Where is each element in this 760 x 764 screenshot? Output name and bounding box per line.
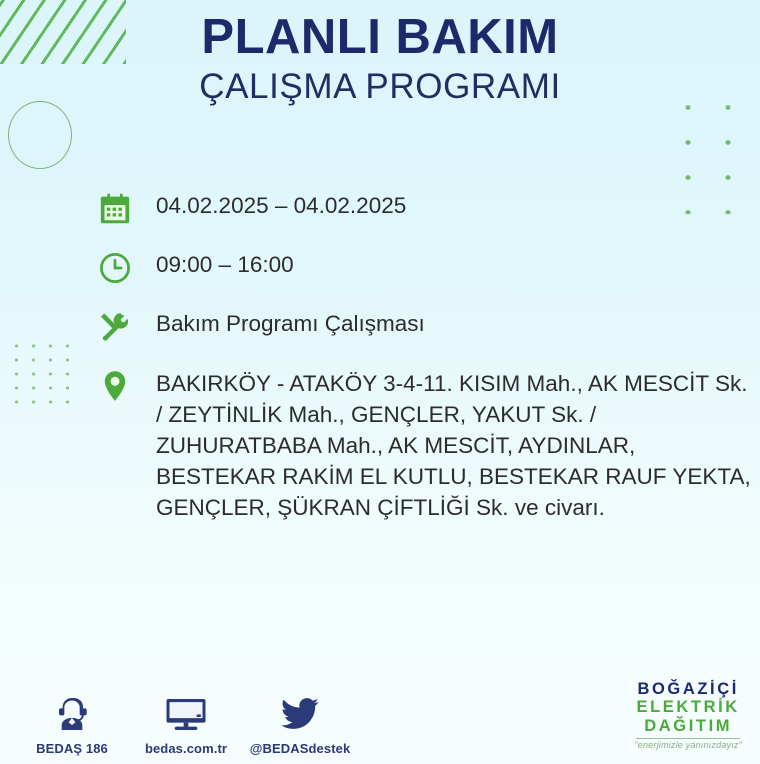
detail-row-time: 09:00 – 16:00 xyxy=(98,249,753,285)
circle-outline-decoration xyxy=(8,101,72,169)
contact-phone[interactable]: BEDAŞ 186 xyxy=(28,690,116,756)
monitor-icon xyxy=(164,690,208,734)
poster-footer: BEDAŞ 186 bedas.com.tr xyxy=(0,654,760,764)
twitter-bird-icon xyxy=(279,690,321,734)
location-pin-icon xyxy=(98,367,156,403)
detail-row-work-type: Bakım Programı Çalışması xyxy=(98,308,753,344)
dot-grid-decoration-left xyxy=(6,336,80,408)
page-title: PLANLI BAKIM xyxy=(0,12,760,63)
time-range-text: 09:00 – 16:00 xyxy=(156,249,294,280)
contact-twitter-label: @BEDASdestek xyxy=(250,741,351,756)
poster-header: PLANLI BAKIM ÇALIŞMA PROGRAMI xyxy=(0,0,760,107)
logo-tagline: "enerjimizle yanınızdayız" xyxy=(634,741,742,750)
address-text: BAKIRKÖY - ATAKÖY 3-4-11. KISIM Mah., AK… xyxy=(156,367,753,523)
call-center-agent-icon xyxy=(52,690,92,734)
logo-divider xyxy=(636,738,740,739)
contact-channels: BEDAŞ 186 bedas.com.tr xyxy=(28,690,344,756)
logo-line-dagitim: DAĞITIM xyxy=(634,718,742,735)
contact-twitter[interactable]: @BEDASdestek xyxy=(256,690,344,756)
contact-website-label: bedas.com.tr xyxy=(145,741,227,756)
contact-website[interactable]: bedas.com.tr xyxy=(142,690,230,756)
logo-line-elektrik: ELEKTRİK xyxy=(634,699,742,716)
bedas-logo: BOĞAZİÇİ ELEKTRİK DAĞITIM "enerjimizle y… xyxy=(634,681,742,751)
date-range-text: 04.02.2025 – 04.02.2025 xyxy=(156,190,406,221)
detail-row-address: BAKIRKÖY - ATAKÖY 3-4-11. KISIM Mah., AK… xyxy=(98,367,753,523)
maintenance-details: 04.02.2025 – 04.02.2025 09:00 – 16:00 xyxy=(98,190,753,523)
logo-line-bogazici: BOĞAZİÇİ xyxy=(634,681,742,698)
tools-icon xyxy=(98,308,156,344)
planned-maintenance-poster: PLANLI BAKIM ÇALIŞMA PROGRAMI xyxy=(0,0,760,764)
calendar-icon xyxy=(98,190,156,226)
work-type-text: Bakım Programı Çalışması xyxy=(156,308,425,339)
clock-icon xyxy=(98,249,156,285)
detail-row-date: 04.02.2025 – 04.02.2025 xyxy=(98,190,753,226)
page-subtitle: ÇALIŞMA PROGRAMI xyxy=(0,68,760,107)
contact-phone-label: BEDAŞ 186 xyxy=(36,741,108,756)
